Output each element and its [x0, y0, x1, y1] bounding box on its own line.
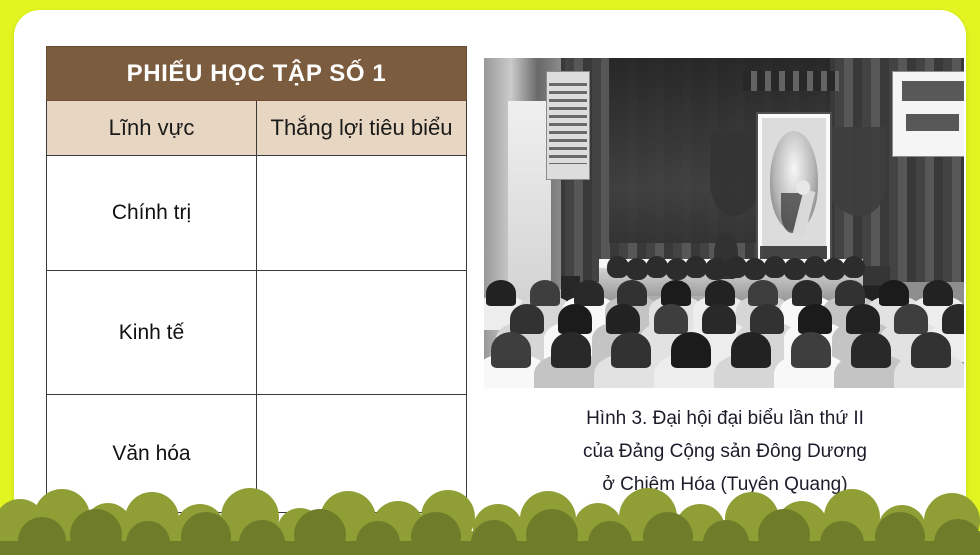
photo-audience-head [846, 304, 880, 334]
worksheet-header-row: Lĩnh vực Thắng lợi tiêu biểu [47, 101, 467, 156]
photo-audience-head [748, 280, 778, 306]
photo-audience-head [491, 332, 531, 368]
photo-audience-head [606, 304, 640, 334]
caption-line-2: của Đảng Cộng sản Đông Dương [484, 435, 966, 468]
photo-audience-head [791, 332, 831, 368]
photo-audience-head [510, 304, 544, 334]
column-header-field: Lĩnh vực [47, 101, 257, 156]
answer-cell-culture[interactable] [257, 395, 467, 513]
photo-presidium-head [646, 256, 668, 278]
photo-presidium-head [607, 256, 629, 278]
photo-right-banner-line2 [906, 114, 959, 131]
photo-presidium-head [685, 256, 707, 278]
column-header-achievement: Thắng lợi tiêu biểu [257, 101, 467, 156]
row-label-culture: Văn hóa [47, 395, 257, 513]
congress-photograph [484, 58, 964, 388]
photo-audience-head [923, 280, 953, 306]
photo-left-banner-text [549, 78, 587, 164]
photo-presidium-head [725, 256, 747, 278]
table-row: Kinh tế [47, 271, 467, 395]
worksheet-title: PHIẾU HỌC TẬP SỐ 1 [47, 47, 467, 101]
caption-line-3: ở Chiêm Hóa (Tuyên Quang) [484, 468, 966, 501]
worksheet-title-row: PHIẾU HỌC TẬP SỐ 1 [47, 47, 467, 101]
photo-audience-head [798, 304, 832, 334]
photo-audience-crowd [484, 276, 964, 388]
photo-audience-head [731, 332, 771, 368]
slide-card: PHIẾU HỌC TẬP SỐ 1 Lĩnh vực Thắng lợi ti… [14, 10, 966, 538]
photo-left-window [508, 101, 551, 306]
photo-audience-head [661, 280, 691, 306]
figure-caption: Hình 3. Đại hội đại biểu lần thứ II của … [484, 402, 966, 501]
photo-audience-head [617, 280, 647, 306]
worksheet-table: PHIẾU HỌC TẬP SỐ 1 Lĩnh vực Thắng lợi ti… [46, 46, 467, 513]
photo-top-flags [743, 71, 839, 91]
photo-audience-head [551, 332, 591, 368]
photo-right-banner-line1 [902, 81, 964, 101]
photo-presidium-head [804, 256, 826, 278]
photo-audience-head [530, 280, 560, 306]
photo-audience-head [574, 280, 604, 306]
photo-audience-head [750, 304, 784, 334]
photo-audience-head [611, 332, 651, 368]
photo-audience-head [702, 304, 736, 334]
photo-presidium-head [764, 256, 786, 278]
answer-cell-economy[interactable] [257, 271, 467, 395]
photo-audience-head [671, 332, 711, 368]
photo-audience-head [894, 304, 928, 334]
photo-audience-head [879, 280, 909, 306]
answer-cell-politics[interactable] [257, 156, 467, 271]
photo-audience-head [792, 280, 822, 306]
row-label-economy: Kinh tế [47, 271, 257, 395]
photo-audience-head [835, 280, 865, 306]
table-row: Chính trị [47, 156, 467, 271]
slide-root: PHIẾU HỌC TẬP SỐ 1 Lĩnh vực Thắng lợi ti… [0, 0, 980, 555]
photo-audience-head [705, 280, 735, 306]
photo-presidium-head [843, 256, 865, 278]
photo-audience-head [911, 332, 951, 368]
caption-line-1: Hình 3. Đại hội đại biểu lần thứ II [484, 402, 966, 435]
table-row: Văn hóa [47, 395, 467, 513]
photo-audience-head [558, 304, 592, 334]
photo-audience-head [942, 304, 964, 334]
row-label-politics: Chính trị [47, 156, 257, 271]
photo-audience-head [851, 332, 891, 368]
figure-photo-container [484, 58, 964, 388]
photo-audience-head [654, 304, 688, 334]
photo-audience-head [486, 280, 516, 306]
